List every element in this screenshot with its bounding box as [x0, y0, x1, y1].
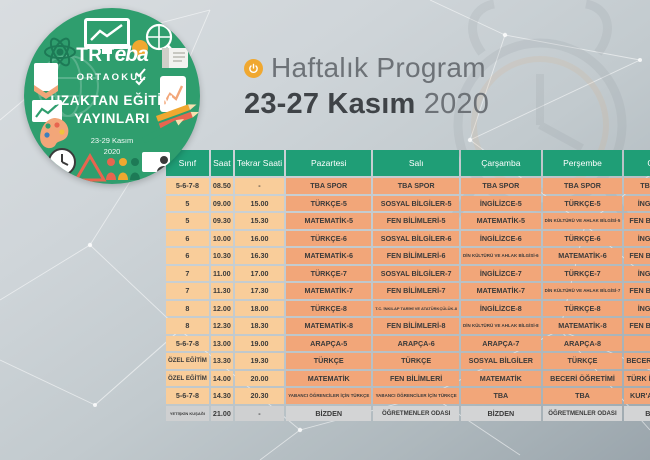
- table-row: 5-6-7-813.0019.00ARAPÇA-5ARAPÇA-6ARAPÇA-…: [166, 336, 650, 352]
- table-body: 5-6-7-808.50-TBA SPORTBA SPORTBA SPORTBA…: [166, 178, 650, 421]
- cell-sali: TBA SPOR: [373, 178, 459, 194]
- cell-cuma: KUR'AN-I KERİM: [624, 388, 650, 404]
- table-row: ÖZEL EĞİTİM14.0020.00MATEMATİKFEN BİLİML…: [166, 371, 650, 387]
- cell-pazartesi: MATEMATİK-5: [286, 213, 371, 229]
- date-range: 23-27 Kasım: [244, 88, 415, 120]
- cell-pazartesi: TÜRKÇE-6: [286, 231, 371, 247]
- cell-persembe: TBA: [543, 388, 623, 404]
- cell-repeat: 19.00: [235, 336, 284, 352]
- badge-date-line1: 23-29 Kasım: [24, 136, 200, 146]
- cell-repeat: 20.30: [235, 388, 284, 404]
- cell-pazartesi: ARAPÇA-5: [286, 336, 371, 352]
- cell-persembe: TÜRKÇE-6: [543, 231, 623, 247]
- cell-time: 13.30: [211, 353, 233, 369]
- cell-class: ÖZEL EĞİTİM: [166, 353, 209, 369]
- cell-cuma: FEN BİLİMLERİ-7: [624, 283, 650, 299]
- cell-cuma: İNGİLİZCE-5: [624, 196, 650, 212]
- cell-time: 12.00: [211, 301, 233, 317]
- cell-cuma: FEN BİLİMLERİ-8: [624, 318, 650, 334]
- cell-pazartesi: TÜRKÇE-5: [286, 196, 371, 212]
- cell-carsamba: İNGİLİZCE-7: [461, 266, 541, 282]
- cell-pazartesi: MATEMATİK-7: [286, 283, 371, 299]
- cell-sali: FEN BİLİMLERİ-7: [373, 283, 459, 299]
- cell-time: 13.00: [211, 336, 233, 352]
- cell-carsamba: MATEMATİK-5: [461, 213, 541, 229]
- cell-cuma: FEN BİLİMLERİ-6: [624, 248, 650, 264]
- cell-persembe: MATEMATİK-6: [543, 248, 623, 264]
- cell-repeat: -: [235, 178, 284, 194]
- badge-title-line2: YAYINLARI: [24, 111, 200, 128]
- cell-class: YETİŞKİN KUŞAĞI: [166, 406, 209, 422]
- cell-persembe: BECERİ ÖĞRETİMİ: [543, 371, 623, 387]
- cell-time: 14.30: [211, 388, 233, 404]
- table-row: 5-6-7-808.50-TBA SPORTBA SPORTBA SPORTBA…: [166, 178, 650, 194]
- cell-repeat: -: [235, 406, 284, 422]
- column-header-persembe: Perşembe: [543, 150, 623, 176]
- cell-time: 11.30: [211, 283, 233, 299]
- cell-time: 12.30: [211, 318, 233, 334]
- cell-cuma: TÜRK İŞARET DİLİ: [624, 371, 650, 387]
- column-header-sali: Salı: [373, 150, 459, 176]
- cell-carsamba: İNGİLİZCE-5: [461, 196, 541, 212]
- cell-sali: FEN BİLİMLERİ-6: [373, 248, 459, 264]
- cell-repeat: 17.00: [235, 266, 284, 282]
- cell-sali: T.C. İNKILAP TARİHİ VE ATATÜRKÇÜLÜK-8: [373, 301, 459, 317]
- cell-class: 7: [166, 283, 209, 299]
- cell-carsamba: MATEMATİK: [461, 371, 541, 387]
- weekly-schedule-table: Sınıf Saat Tekrar Saati Pazartesi Salı Ç…: [164, 148, 650, 423]
- cell-persembe: TBA SPOR: [543, 178, 623, 194]
- cell-sali: YABANCI ÖĞRENCİLER İÇİN TÜRKÇE: [373, 388, 459, 404]
- cell-pazartesi: BİZDEN: [286, 406, 371, 422]
- column-header-saat: Saat: [211, 150, 233, 176]
- cell-time: 10.30: [211, 248, 233, 264]
- cell-pazartesi: TÜRKÇE: [286, 353, 371, 369]
- cell-cuma: TBA: [624, 336, 650, 352]
- cell-pazartesi: YABANCI ÖĞRENCİLER İÇİN TÜRKÇE: [286, 388, 371, 404]
- cell-pazartesi: MATEMATİK-8: [286, 318, 371, 334]
- cell-sali: ÖĞRETMENLER ODASI: [373, 406, 459, 422]
- cell-class: 5-6-7-8: [166, 388, 209, 404]
- cell-carsamba: BİZDEN: [461, 406, 541, 422]
- badge-title-line1: UZAKTAN EĞİTİM: [24, 93, 200, 110]
- page-title: Haftalık Program: [271, 52, 486, 84]
- badge-level: ORTAOKUL: [24, 72, 200, 83]
- table-row: 812.0018.00TÜRKÇE-8T.C. İNKILAP TARİHİ V…: [166, 301, 650, 317]
- cell-time: 14.00: [211, 371, 233, 387]
- cell-time: 09.30: [211, 213, 233, 229]
- cell-repeat: 18.00: [235, 301, 284, 317]
- cell-persembe: MATEMATİK-8: [543, 318, 623, 334]
- cell-class: 5: [166, 213, 209, 229]
- table-row: 610.0016.00TÜRKÇE-6SOSYAL BİLGİLER-6İNGİ…: [166, 231, 650, 247]
- cell-persembe: DİN KÜLTÜRÜ VE AHLAK BİLGİSİ-5: [543, 213, 623, 229]
- badge-brand-eba: eba: [115, 43, 148, 66]
- cell-sali: SOSYAL BİLGİLER-5: [373, 196, 459, 212]
- column-header-pazartesi: Pazartesi: [286, 150, 371, 176]
- cell-cuma: FEN BİLİMLERİ-5: [624, 213, 650, 229]
- cell-persembe: DİN KÜLTÜRÜ VE AHLAK BİLGİSİ-7: [543, 283, 623, 299]
- cell-repeat: 16.00: [235, 231, 284, 247]
- cell-sali: SOSYAL BİLGİLER-6: [373, 231, 459, 247]
- cell-pazartesi: MATEMATİK-6: [286, 248, 371, 264]
- page-header: Haftalık Program 23-27 Kasım 2020: [244, 52, 489, 121]
- cell-carsamba: MATEMATİK-7: [461, 283, 541, 299]
- cell-class: 5-6-7-8: [166, 336, 209, 352]
- cell-persembe: TÜRKÇE-5: [543, 196, 623, 212]
- trt-ebа-logo-badge: TRTeba ORTAOKUL UZAKTAN EĞİTİM YAYINLARI…: [24, 8, 200, 184]
- table-row: 509.0015.00TÜRKÇE-5SOSYAL BİLGİLER-5İNGİ…: [166, 196, 650, 212]
- cell-repeat: 15.00: [235, 196, 284, 212]
- badge-date-line2: 2020: [24, 147, 200, 157]
- cell-pazartesi: MATEMATİK: [286, 371, 371, 387]
- page-subtitle: 23-27 Kasım 2020: [244, 88, 489, 121]
- cell-cuma: İNGİLİZCE-7: [624, 266, 650, 282]
- table-row: 5-6-7-814.3020.30YABANCI ÖĞRENCİLER İÇİN…: [166, 388, 650, 404]
- cell-class: 7: [166, 266, 209, 282]
- cell-repeat: 16.30: [235, 248, 284, 264]
- cell-time: 09.00: [211, 196, 233, 212]
- cell-carsamba: DİN KÜLTÜRÜ VE AHLAK BİLGİSİ-6: [461, 248, 541, 264]
- cell-repeat: 15.30: [235, 213, 284, 229]
- cell-sali: ARAPÇA-6: [373, 336, 459, 352]
- cell-cuma: BİZDEN: [624, 406, 650, 422]
- cell-persembe: ARAPÇA-8: [543, 336, 623, 352]
- cell-repeat: 18.30: [235, 318, 284, 334]
- cell-persembe: TÜRKÇE-8: [543, 301, 623, 317]
- table-row: YETİŞKİN KUŞAĞI21.00-BİZDENÖĞRETMENLER O…: [166, 406, 650, 422]
- cell-sali: TÜRKÇE: [373, 353, 459, 369]
- cell-class: 8: [166, 318, 209, 334]
- cell-repeat: 17.30: [235, 283, 284, 299]
- cell-class: 5: [166, 196, 209, 212]
- year: 2020: [424, 88, 489, 120]
- table-row: 509.3015.30MATEMATİK-5FEN BİLİMLERİ-5MAT…: [166, 213, 650, 229]
- cell-persembe: TÜRKÇE: [543, 353, 623, 369]
- cell-carsamba: ARAPÇA-7: [461, 336, 541, 352]
- column-header-carsamba: Çarşamba: [461, 150, 541, 176]
- table-header-row: Sınıf Saat Tekrar Saati Pazartesi Salı Ç…: [166, 150, 650, 176]
- table-row: 812.3018.30MATEMATİK-8FEN BİLİMLERİ-8DİN…: [166, 318, 650, 334]
- column-header-cuma: Cuma: [624, 150, 650, 176]
- cell-sali: SOSYAL BİLGİLER-7: [373, 266, 459, 282]
- cell-carsamba: SOSYAL BİLGİLER: [461, 353, 541, 369]
- cell-time: 21.00: [211, 406, 233, 422]
- cell-pazartesi: TÜRKÇE-7: [286, 266, 371, 282]
- cell-carsamba: TBA: [461, 388, 541, 404]
- cell-carsamba: İNGİLİZCE-8: [461, 301, 541, 317]
- cell-carsamba: İNGİLİZCE-6: [461, 231, 541, 247]
- cell-cuma: İNGİLİZCE-8: [624, 301, 650, 317]
- cell-carsamba: DİN KÜLTÜRÜ VE AHLAK BİLGİSİ-8: [461, 318, 541, 334]
- cell-class: 8: [166, 301, 209, 317]
- cell-pazartesi: TÜRKÇE-8: [286, 301, 371, 317]
- cell-class: ÖZEL EĞİTİM: [166, 371, 209, 387]
- cell-sali: FEN BİLİMLERİ-5: [373, 213, 459, 229]
- cell-cuma: TBA SPOR: [624, 178, 650, 194]
- cell-carsamba: TBA SPOR: [461, 178, 541, 194]
- cell-time: 11.00: [211, 266, 233, 282]
- cell-cuma: BECERİ ÖĞRETİMİ: [624, 353, 650, 369]
- badge-brand-trt: TRT: [76, 45, 114, 66]
- cell-sali: FEN BİLİMLERİ: [373, 371, 459, 387]
- cell-sali: FEN BİLİMLERİ-8: [373, 318, 459, 334]
- power-icon: [244, 59, 263, 78]
- cell-persembe: ÖĞRETMENLER ODASI: [543, 406, 623, 422]
- table-row: 711.3017.30MATEMATİK-7FEN BİLİMLERİ-7MAT…: [166, 283, 650, 299]
- cell-time: 10.00: [211, 231, 233, 247]
- cell-class: 6: [166, 248, 209, 264]
- cell-pazartesi: TBA SPOR: [286, 178, 371, 194]
- table-row: ÖZEL EĞİTİM13.3019.30TÜRKÇETÜRKÇESOSYAL …: [166, 353, 650, 369]
- table-row: 711.0017.00TÜRKÇE-7SOSYAL BİLGİLER-7İNGİ…: [166, 266, 650, 282]
- cell-persembe: TÜRKÇE-7: [543, 266, 623, 282]
- badge-brand: TRTeba: [24, 44, 200, 65]
- cell-time: 08.50: [211, 178, 233, 194]
- cell-repeat: 19.30: [235, 353, 284, 369]
- cell-cuma: İNGİLİZCE-6: [624, 231, 650, 247]
- cell-class: 6: [166, 231, 209, 247]
- table-row: 610.3016.30MATEMATİK-6FEN BİLİMLERİ-6DİN…: [166, 248, 650, 264]
- column-header-tekrar-saati: Tekrar Saati: [235, 150, 284, 176]
- cell-repeat: 20.00: [235, 371, 284, 387]
